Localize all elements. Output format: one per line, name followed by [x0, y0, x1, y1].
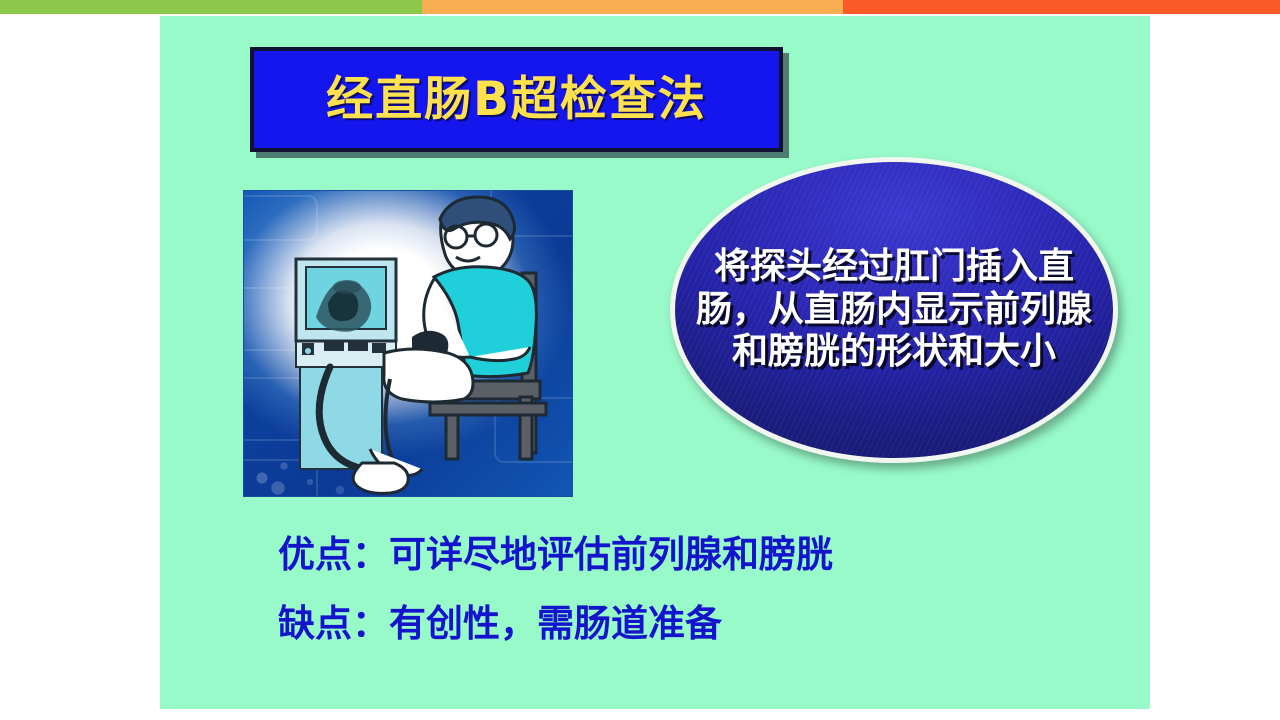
bullet-list: 优点：可详尽地评估前列腺和膀胱 缺点：有创性，需肠道准备: [278, 536, 1118, 674]
ultrasound-clipart-image: [243, 190, 573, 497]
color-bar-segment-red: [843, 0, 1280, 14]
top-color-bar: [0, 0, 1280, 14]
ultrasound-machine: [296, 259, 396, 469]
color-bar-segment-green: [0, 0, 422, 14]
slide-title-text: 经直肠B超检查法: [326, 76, 707, 123]
callout-text: 将探头经过肛门插入直肠，从直肠内显示前列腺和膀胱的形状和大小: [694, 246, 1094, 373]
bullet-disadvantages: 缺点：有创性，需肠道准备: [278, 605, 1118, 642]
callout-oval: 将探头经过肛门插入直肠，从直肠内显示前列腺和膀胱的形状和大小: [670, 157, 1118, 463]
bullet-advantages: 优点：可详尽地评估前列腺和膀胱: [278, 536, 1118, 573]
clipart-scene-svg: [244, 191, 573, 497]
slide-title-box: 经直肠B超检查法: [250, 47, 783, 152]
color-bar-segment-orange: [422, 0, 843, 14]
slide-canvas: 经直肠B超检查法: [160, 16, 1150, 709]
